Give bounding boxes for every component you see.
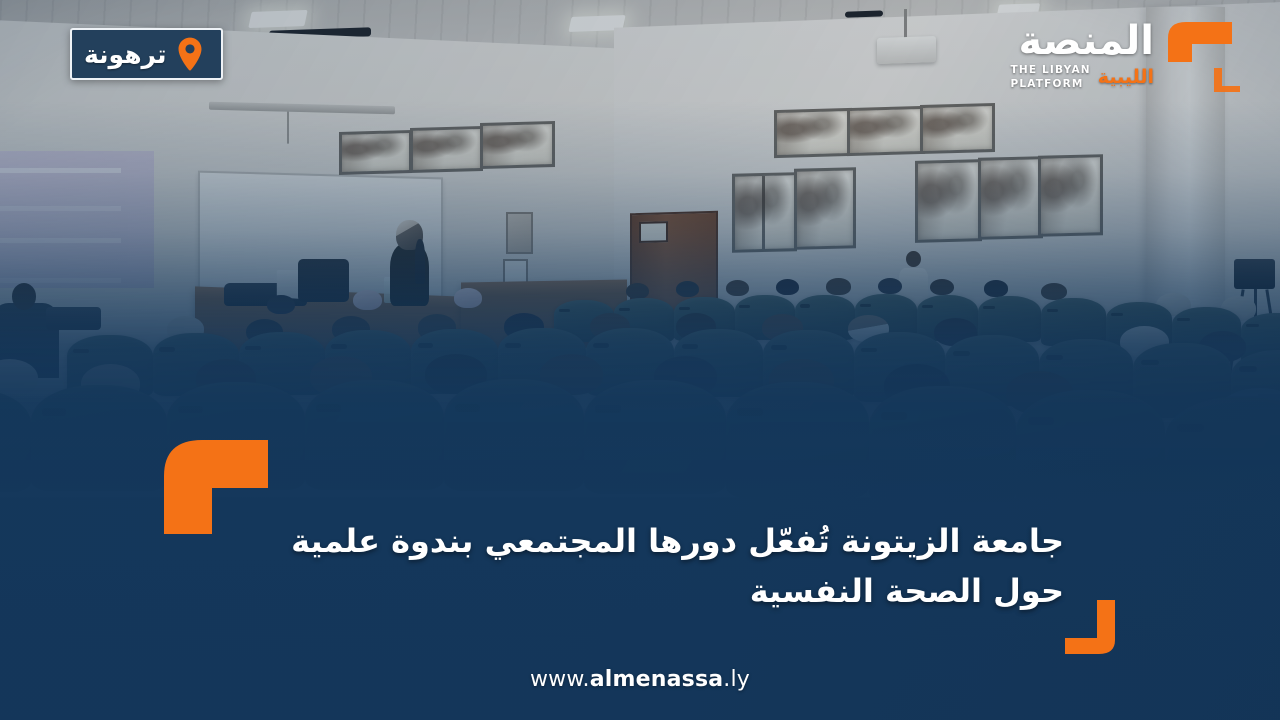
location-label: ترهونة [84,42,167,67]
quote-close-bracket-icon [1063,598,1125,656]
brand-sub-row: THE LIBYANPLATFORM الليبية [1010,64,1154,90]
map-pin-icon [177,37,203,71]
brand-mark-icon [1162,18,1244,94]
website-name: almenassa [590,667,724,692]
brand-logo-text: المنصة THE LIBYANPLATFORM الليبية [1010,21,1154,90]
brand-qualifier-arabic: الليبية [1098,68,1154,87]
website-prefix: www. [530,667,590,692]
website-url[interactable]: www.almenassa.ly [0,667,1280,692]
brand-logo[interactable]: المنصة THE LIBYANPLATFORM الليبية [1010,18,1244,94]
website-tld: .ly [723,667,750,692]
headline: جامعة الزيتونة تُفعّل دورها المجتمعي بند… [214,517,1064,616]
location-badge[interactable]: ترهونة [70,28,223,80]
brand-name-latin: THE LIBYANPLATFORM [1010,64,1090,90]
news-card: ترهونة المنصة THE LIBYANPLATFORM الليبية… [0,0,1280,720]
brand-name-arabic: المنصة [1018,21,1154,61]
